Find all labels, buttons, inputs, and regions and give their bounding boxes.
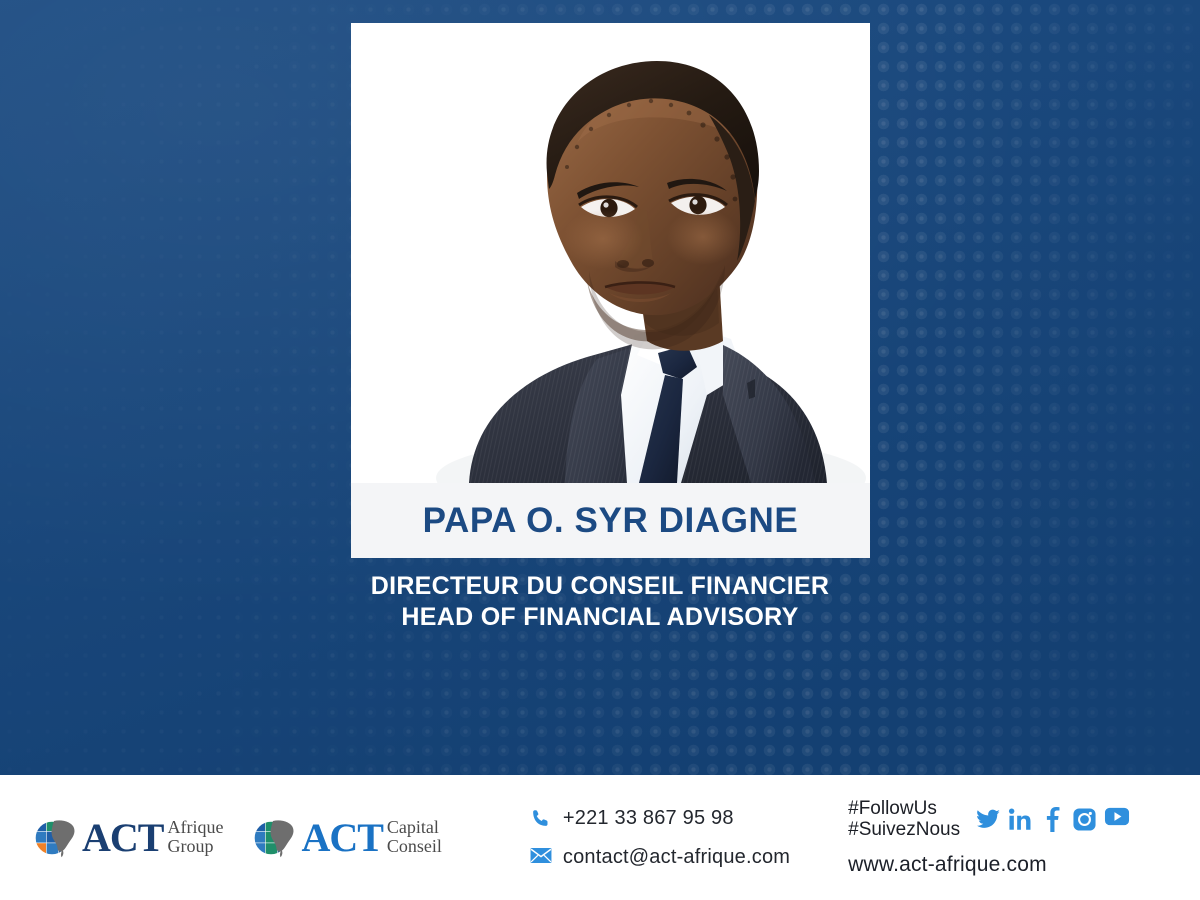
social-block: #FollowUs #SuivezNous: [848, 798, 1129, 877]
hashtag-suivez-nous: #SuivezNous: [848, 819, 960, 840]
email-row[interactable]: contact@act-afrique.com: [530, 846, 790, 869]
phone-number: +221 33 867 95 98: [563, 807, 734, 830]
logo-subtext-line1: Afrique: [167, 817, 223, 837]
footer-bar: ACT Afrique Group: [0, 775, 1200, 900]
job-titles: DIRECTEUR DU CONSEIL FINANCIER HEAD OF F…: [0, 571, 1200, 633]
logo-group: ACT Afrique Group: [0, 815, 442, 861]
person-name: PAPA O. SYR DIAGNE: [423, 501, 799, 541]
youtube-icon[interactable]: [1104, 807, 1129, 832]
twitter-icon[interactable]: [976, 807, 1001, 832]
email-address: contact@act-afrique.com: [563, 846, 790, 869]
logo-subtext-line2: Conseil: [387, 836, 442, 856]
instagram-icon[interactable]: [1072, 807, 1097, 832]
logo-wordmark: ACT: [82, 818, 163, 858]
logo-subtext-line2: Group: [167, 836, 213, 856]
logo-act-afrique-group[interactable]: ACT Afrique Group: [32, 815, 223, 861]
social-top-row: #FollowUs #SuivezNous: [848, 798, 1129, 840]
social-icon-list: [976, 807, 1129, 832]
profile-announcement-card: PAPA O. SYR DIAGNE DIRECTEUR DU CONSEIL …: [0, 0, 1200, 900]
logo-wordmark: ACT: [301, 818, 382, 858]
name-band: PAPA O. SYR DIAGNE: [351, 483, 870, 558]
envelope-icon: [530, 847, 551, 868]
contact-block: +221 33 867 95 98 contact@act-afrique.co…: [530, 807, 790, 869]
phone-row[interactable]: +221 33 867 95 98: [530, 807, 790, 830]
website-url[interactable]: www.act-afrique.com: [848, 853, 1129, 877]
hashtag-follow-us: #FollowUs: [848, 798, 937, 819]
logo-subtext: Capital Conseil: [387, 818, 442, 858]
globe-africa-icon: [32, 815, 78, 861]
facebook-icon[interactable]: [1040, 807, 1065, 832]
job-title-fr: DIRECTEUR DU CONSEIL FINANCIER: [0, 571, 1200, 602]
portrait-photo: [351, 23, 870, 483]
follow-hashtags: #FollowUs #SuivezNous: [848, 798, 960, 840]
logo-subtext-line1: Capital: [387, 817, 439, 837]
job-title-en: HEAD OF FINANCIAL ADVISORY: [0, 602, 1200, 633]
linkedin-icon[interactable]: [1008, 807, 1033, 832]
logo-subtext: Afrique Group: [167, 818, 223, 858]
photo-card: PAPA O. SYR DIAGNE: [351, 23, 870, 558]
globe-africa-icon: [251, 815, 297, 861]
logo-act-capital-conseil[interactable]: ACT Capital Conseil: [251, 815, 441, 861]
phone-icon: [530, 808, 551, 829]
